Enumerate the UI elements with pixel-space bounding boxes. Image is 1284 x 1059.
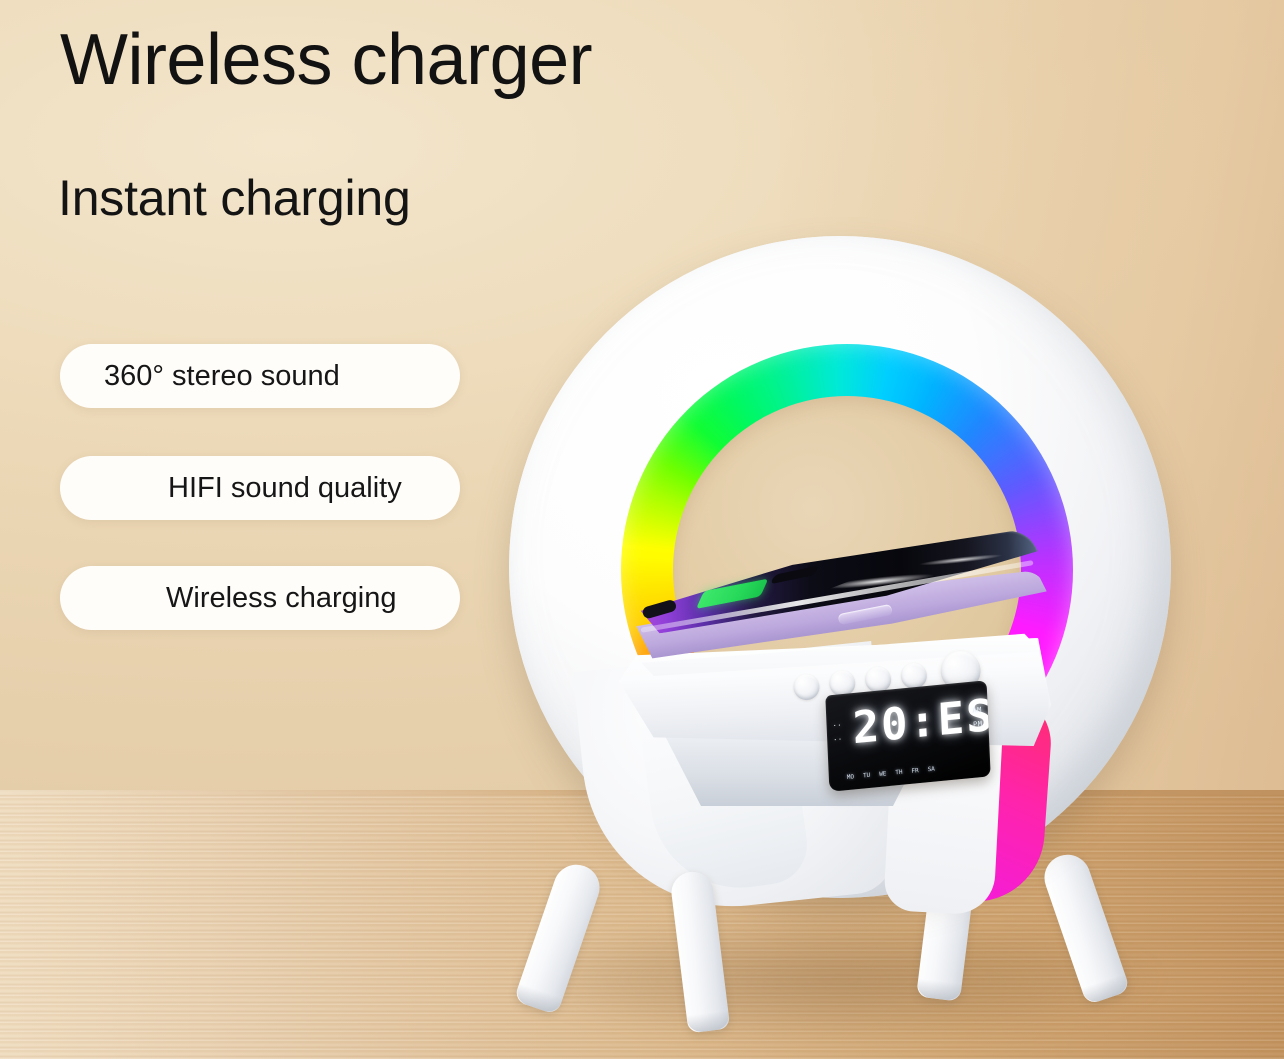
feature-label-hifi-sound: HIFI sound quality xyxy=(168,456,402,520)
marketing-text-overlay: Wireless charger Instant charging 360° s… xyxy=(0,0,1284,1059)
page-subtitle: Instant charging xyxy=(58,173,411,223)
page-title: Wireless charger xyxy=(60,24,592,96)
feature-label-wireless-charging: Wireless charging xyxy=(166,566,396,630)
feature-label-stereo-sound: 360° stereo sound xyxy=(104,344,340,408)
